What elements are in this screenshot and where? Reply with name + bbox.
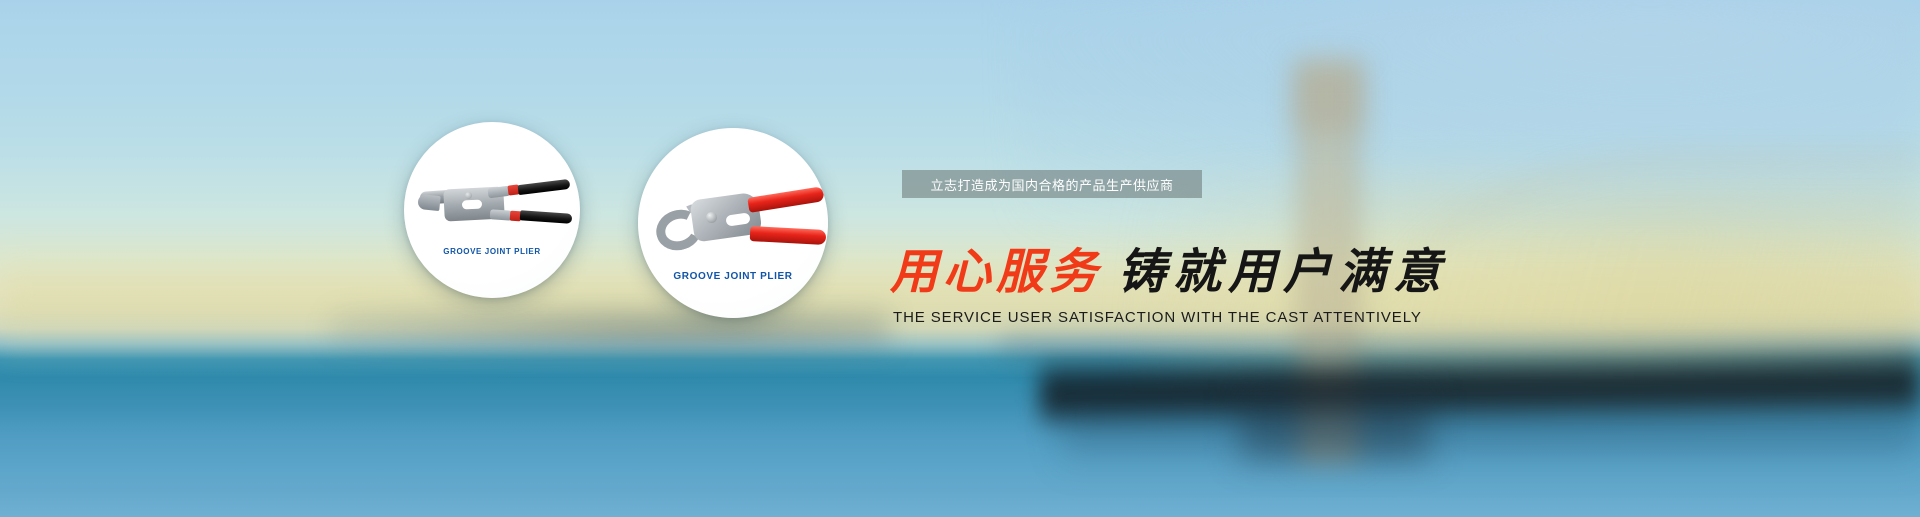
shoreline-blur: [330, 308, 890, 352]
headline-red-part: 用心服务: [890, 244, 1102, 300]
product-circle-1[interactable]: GROOVE JOINT PLIER: [404, 122, 580, 298]
water-reflection: [1060, 415, 1920, 475]
plier-jaw-nose: [417, 194, 440, 211]
groove-joint-plier-red-icon: [656, 190, 820, 256]
plier-handle-lower: [750, 226, 827, 245]
tagline-bar-text: 立志打造成为国内合格的产品生产供应商: [930, 175, 1173, 194]
headline-subtitle: THE SERVICE USER SATISFACTION WITH THE C…: [893, 309, 1422, 326]
plier-pivot: [706, 212, 717, 223]
plier-handle-upper: [747, 186, 824, 213]
headline: 用心服务铸就用户满意: [890, 248, 1448, 296]
bridge-tower-top: [1294, 62, 1364, 132]
promo-banner: GROOVE JOINT PLIER GROOVE JOINT PLIER 立志…: [0, 0, 1920, 517]
tagline-bar: 立志打造成为国内合格的产品生产供应商: [902, 170, 1202, 198]
plier-slot: [462, 199, 482, 209]
product-circle-2[interactable]: GROOVE JOINT PLIER: [638, 128, 828, 318]
plier-handle-upper: [518, 179, 571, 195]
plier-handle-lower: [520, 210, 573, 224]
product-label-2: GROOVE JOINT PLIER: [638, 271, 828, 282]
plier-pivot: [465, 192, 472, 199]
groove-joint-plier-black-icon: [418, 180, 568, 230]
headline-dark-part: 铸就用户满意: [1118, 244, 1448, 300]
product-label-1: GROOVE JOINT PLIER: [404, 247, 580, 256]
